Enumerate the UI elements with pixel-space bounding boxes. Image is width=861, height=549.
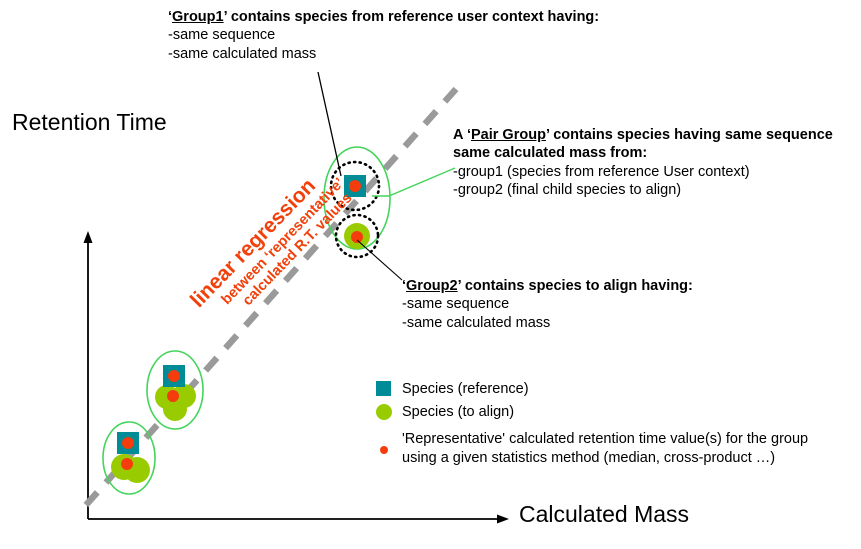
pair-group-leader-line [372,168,455,196]
pair-group-callout: A ‘Pair Group’ contains species having s… [453,126,833,199]
group2-title-rest: ’ contains species to align having: [458,278,693,294]
axis-group [84,231,510,524]
pair-group-title-rest: ’ contains species having same sequence [546,127,833,143]
legend-item-reference: Species (reference) [402,380,529,399]
group1-bullet-1: -same sequence [168,26,599,44]
representative-point [121,458,133,470]
x-axis-title: Calculated Mass [519,500,689,529]
pair-group-bullet-1: -group1 (species from reference User con… [453,163,833,181]
linear-regression-line [86,89,456,505]
diagram-canvas: Retention Time Calculated Mass ‘Group1’ … [0,0,861,549]
group2-term: Group2 [406,278,458,294]
group1-term: Group1 [172,9,224,25]
legend-label-reference: Species (reference) [402,380,529,399]
group2-bullet-1: -same sequence [402,295,693,313]
group2-bullet-2: -same calculated mass [402,314,693,332]
representative-point [167,390,179,402]
y-axis-arrowhead [84,231,93,243]
representative-point [168,370,180,382]
square-teal-icon [376,381,391,396]
group2-callout: ‘Group2’ contains species to align havin… [402,277,693,332]
pair-group-title-pre: A ‘ [453,127,471,143]
cluster-mid [147,351,203,429]
group1-callout-title: ‘Group1’ contains species from reference… [168,8,599,26]
group1-bullet-2: -same calculated mass [168,45,599,63]
group2-leader-line [357,240,402,280]
cluster-low [103,422,155,494]
representative-point [122,437,134,449]
pair-group-callout-title: A ‘Pair Group’ contains species having s… [453,126,833,144]
legend-item-to-align: Species (to align) [402,403,514,422]
pair-group-bullet-2: -group2 (final child species to align) [453,181,833,199]
group1-title-rest: ’ contains species from reference user c… [224,9,600,25]
representative-point [351,231,363,243]
group2-callout-title: ‘Group2’ contains species to align havin… [402,277,693,295]
legend-label-representative-line-1: 'Representative' calculated retention ti… [402,430,808,449]
legend-item-representative: 'Representative' calculated retention ti… [402,430,808,469]
x-axis-arrowhead [497,515,509,524]
group1-callout: ‘Group1’ contains species from reference… [168,8,599,63]
y-axis-title: Retention Time [12,108,167,137]
legend-label-to-align: Species (to align) [402,403,514,422]
pair-group-term: Pair Group [471,127,546,143]
dot-red-icon [380,446,388,454]
circle-green-icon [376,404,392,420]
pair-group-callout-title-line2: same calculated mass from: [453,144,833,162]
legend-label-representative-line-2: using a given statistics method (median,… [402,449,808,468]
